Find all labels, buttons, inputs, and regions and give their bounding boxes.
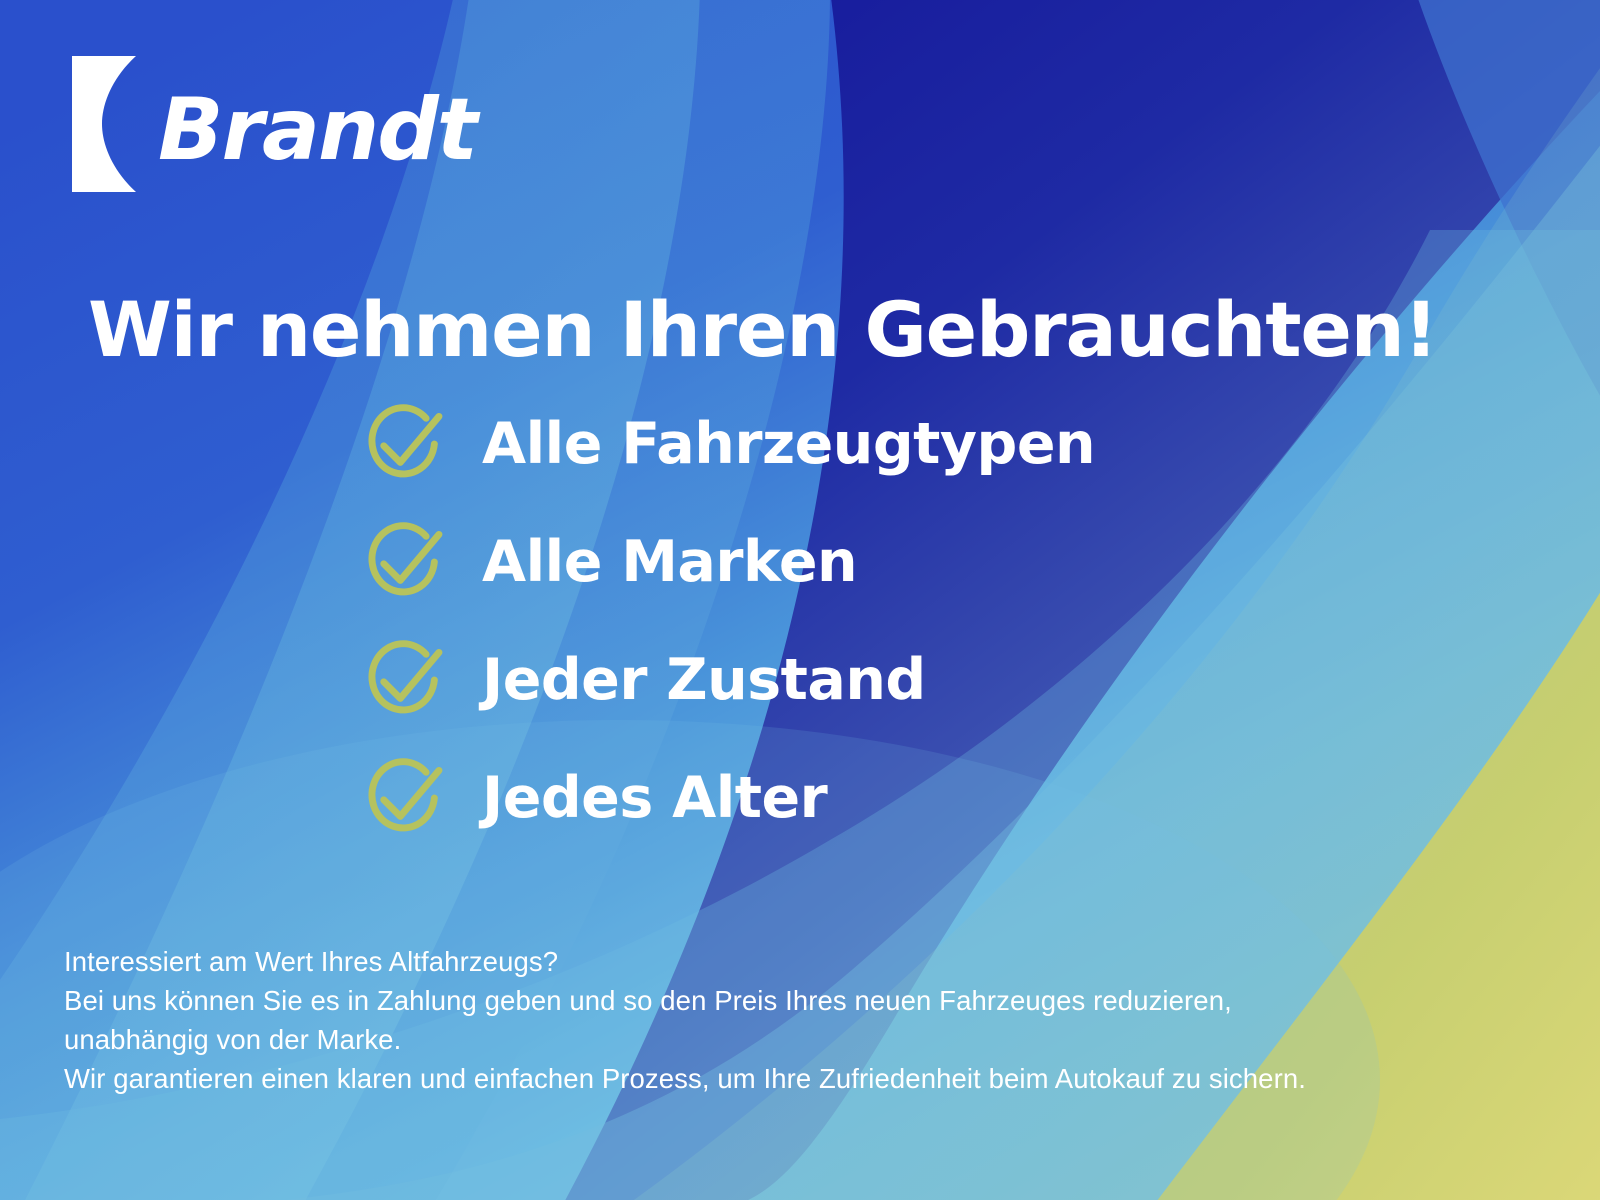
feature-label: Jeder Zustand	[482, 652, 926, 709]
feature-label: Alle Fahrzeugtypen	[482, 416, 1095, 473]
check-circle-icon	[358, 516, 450, 608]
body-line-3: unabhängig von der Marke.	[64, 1020, 1544, 1059]
body-paragraph: Interessiert am Wert Ihres Altfahrzeugs?…	[64, 942, 1544, 1098]
body-line-4: Wir garantieren einen klaren und einfach…	[64, 1059, 1544, 1098]
brand-wordmark: Brandt	[158, 87, 476, 173]
poster-content: Brandt Wir nehmen Ihren Gebrauchten! All…	[0, 0, 1600, 1200]
page-title: Wir nehmen Ihren Gebrauchten!	[88, 289, 1538, 371]
promo-poster: Brandt Wir nehmen Ihren Gebrauchten! All…	[0, 0, 1600, 1200]
feature-item: Jeder Zustand	[358, 632, 1095, 728]
brandt-bracket-mark-icon	[72, 56, 152, 192]
feature-item: Alle Fahrzeugtypen	[358, 396, 1095, 492]
check-circle-icon	[358, 752, 450, 844]
feature-label: Alle Marken	[482, 534, 857, 591]
body-line-2: Bei uns können Sie es in Zahlung geben u…	[64, 981, 1544, 1020]
brand-logo: Brandt	[72, 54, 476, 194]
check-circle-icon	[358, 398, 450, 490]
feature-label: Jedes Alter	[482, 770, 827, 827]
feature-item: Alle Marken	[358, 514, 1095, 610]
check-circle-icon	[358, 634, 450, 726]
body-line-1: Interessiert am Wert Ihres Altfahrzeugs?	[64, 942, 1544, 981]
feature-list: Alle Fahrzeugtypen Alle Marken Jeder Zus…	[358, 396, 1095, 846]
feature-item: Jedes Alter	[358, 750, 1095, 846]
